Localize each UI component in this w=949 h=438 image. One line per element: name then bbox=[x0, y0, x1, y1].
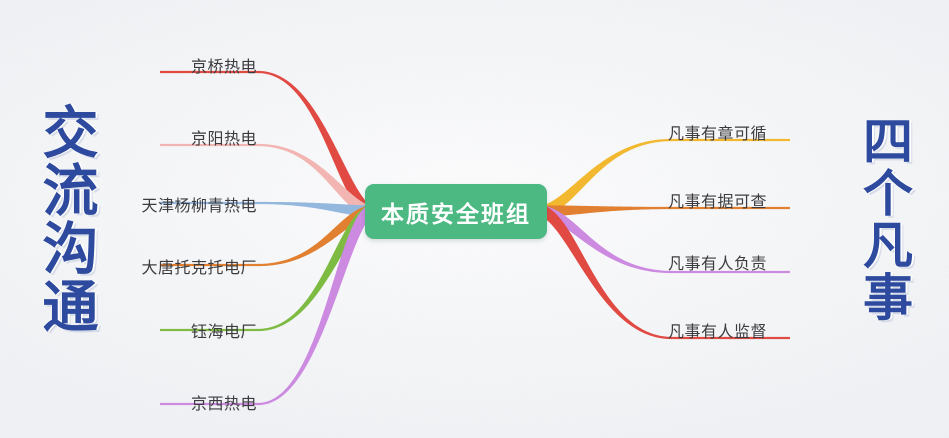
branch-curve bbox=[542, 139, 672, 216]
branch-label-text: 大唐托克托电厂 bbox=[141, 258, 257, 277]
branch-label-left[interactable]: 钰海电厂 bbox=[191, 318, 257, 342]
mindmap-canvas: 交流沟通 四个凡事 本质安全班组 京桥热电京阳热电天津杨柳青热电大唐托克托电厂钰… bbox=[0, 0, 949, 438]
branch-label-text: 京西热电 bbox=[191, 394, 257, 413]
branch-label-left[interactable]: 京阳热电 bbox=[191, 125, 257, 149]
branch-label-right[interactable]: 凡事有人负责 bbox=[668, 250, 767, 274]
branch-label-right[interactable]: 凡事有据可查 bbox=[668, 188, 767, 212]
branch-label-text: 凡事有章可循 bbox=[668, 124, 767, 143]
branch-label-text: 天津杨柳青热电 bbox=[141, 196, 257, 215]
branch-label-text: 钰海电厂 bbox=[191, 322, 257, 341]
branch-label-left[interactable]: 大唐托克托电厂 bbox=[141, 254, 257, 278]
branch-label-right[interactable]: 凡事有人监督 bbox=[668, 318, 767, 342]
branch-label-left[interactable]: 京桥热电 bbox=[191, 53, 257, 77]
branch-curve bbox=[542, 206, 672, 273]
branch-label-text: 京阳热电 bbox=[191, 129, 257, 148]
center-node-label: 本质安全班组 bbox=[381, 195, 531, 229]
branch-label-right[interactable]: 凡事有章可循 bbox=[668, 120, 767, 144]
branch-curve bbox=[541, 206, 672, 339]
branch-label-text: 凡事有人负责 bbox=[668, 254, 767, 273]
branch-label-text: 凡事有人监督 bbox=[668, 322, 767, 341]
branch-label-text: 凡事有据可查 bbox=[668, 192, 767, 211]
branch-label-text: 京桥热电 bbox=[191, 57, 257, 76]
branch-curve bbox=[258, 207, 372, 405]
branch-curve bbox=[258, 71, 372, 216]
center-node[interactable]: 本质安全班组 bbox=[365, 184, 547, 239]
branch-label-left[interactable]: 京西热电 bbox=[191, 390, 257, 414]
branch-label-left[interactable]: 天津杨柳青热电 bbox=[141, 192, 257, 216]
